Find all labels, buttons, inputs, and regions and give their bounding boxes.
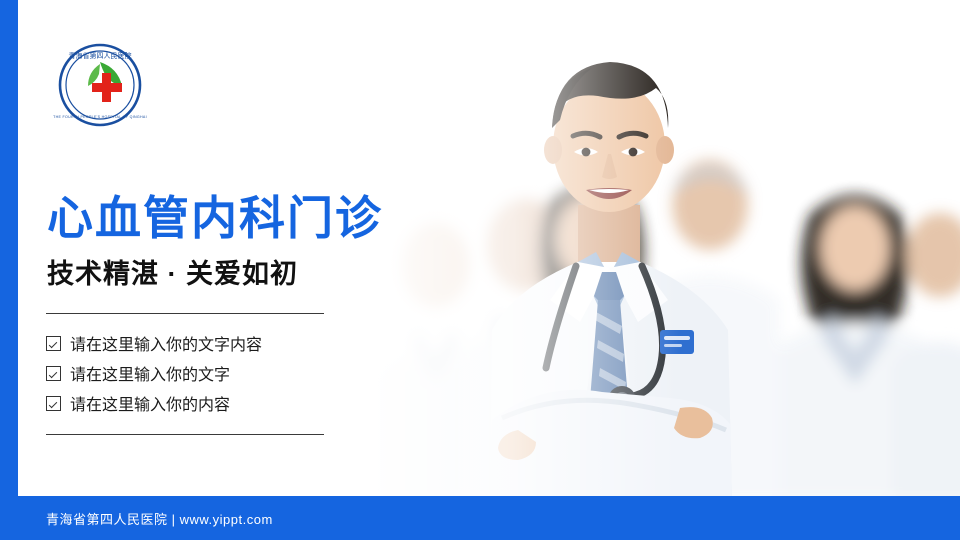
list-item: 请在这里输入你的内容 bbox=[46, 388, 376, 418]
logo-bottom-text: THE FOURTH PEOPLE'S HOSPITAL OF QINGHAI bbox=[53, 115, 147, 119]
hospital-logo-icon: 青海省第四人民医院 THE FOURTH PEOPLE'S HOSPITAL O… bbox=[48, 42, 152, 128]
list-item-label: 请在这里输入你的内容 bbox=[70, 391, 230, 415]
list-item: 请在这里输入你的文字 bbox=[46, 358, 376, 388]
divider-top bbox=[46, 313, 324, 314]
doctors-photo-illustration bbox=[340, 0, 960, 503]
footer-label: 青海省第四人民医院 | www.yippt.com bbox=[46, 509, 273, 528]
hospital-logo: 青海省第四人民医院 THE FOURTH PEOPLE'S HOSPITAL O… bbox=[48, 42, 152, 128]
checkbox-icon bbox=[46, 396, 61, 411]
list-item-label: 请在这里输入你的文字内容 bbox=[70, 331, 262, 355]
list-item: 请在这里输入你的文字内容 bbox=[46, 328, 376, 358]
slide-subtitle: 技术精湛 · 关爱如初 bbox=[47, 252, 298, 291]
presentation-slide: 青海省第四人民医院 THE FOURTH PEOPLE'S HOSPITAL O… bbox=[0, 0, 960, 540]
checkbox-icon bbox=[46, 366, 61, 381]
logo-top-text: 青海省第四人民医院 bbox=[69, 51, 132, 60]
list-item-label: 请在这里输入你的文字 bbox=[70, 361, 230, 385]
bullet-list: 请在这里输入你的文字内容 请在这里输入你的文字 请在这里输入你的内容 bbox=[46, 328, 376, 418]
checkbox-icon bbox=[46, 336, 61, 351]
left-accent-bar bbox=[0, 0, 18, 540]
slide-title: 心血管内科门诊 bbox=[47, 182, 383, 248]
footer-bar: 青海省第四人民医院 | www.yippt.com bbox=[0, 496, 960, 540]
doctors-photo bbox=[340, 0, 960, 503]
divider-bottom bbox=[46, 434, 324, 435]
